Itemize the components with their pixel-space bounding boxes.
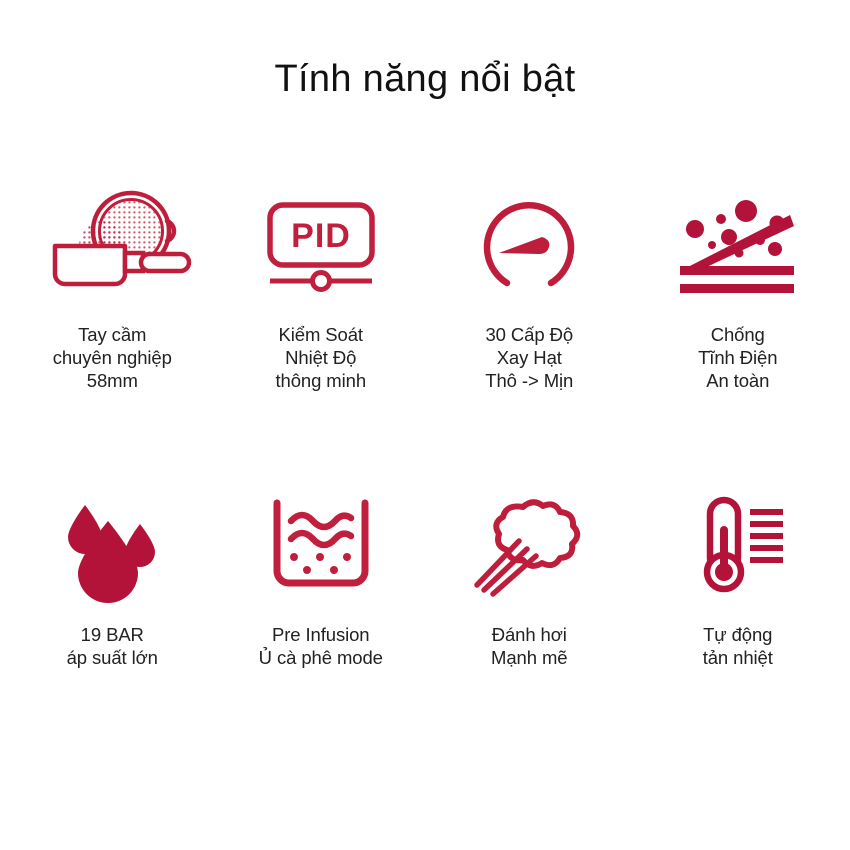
svg-text:PID: PID (291, 217, 351, 255)
feature-item-pid: PID Kiểm Soát Nhiệt Độ thông minh (217, 185, 426, 430)
feature-caption: Đánh hơi Mạnh mẽ (491, 623, 567, 669)
feature-item-thermometer: Tự động tản nhiệt (634, 485, 843, 730)
grind-gauge-icon (459, 185, 599, 310)
pre-infusion-basin-icon (251, 485, 391, 610)
feature-grid: Tay cầm chuyên nghiệp 58mm PID Kiểm Soát… (8, 185, 842, 730)
feature-caption: 30 Cấp Độ Xay Hạt Thô -> Mịn (485, 323, 573, 392)
feature-caption: Pre Infusion Ủ cà phê mode (259, 623, 383, 669)
feature-item-portafilter: Tay cầm chuyên nghiệp 58mm (8, 185, 217, 430)
water-drops-icon (42, 485, 182, 610)
feature-caption: Chống Tĩnh Điện An toàn (698, 323, 777, 392)
feature-highlights-page: Tính năng nổi bật (0, 0, 850, 850)
feature-item-pressure: 19 BAR áp suất lớn (8, 485, 217, 730)
page-title: Tính năng nổi bật (0, 56, 850, 102)
feature-item-grind: 30 Cấp Độ Xay Hạt Thô -> Mịn (425, 185, 634, 430)
anti-static-particles-icon (668, 185, 808, 310)
feature-caption: 19 BAR áp suất lớn (67, 623, 158, 669)
feature-caption: Kiểm Soát Nhiệt Độ thông minh (275, 323, 366, 392)
pid-controller-icon: PID (251, 185, 391, 310)
feature-caption: Tay cầm chuyên nghiệp 58mm (53, 323, 172, 392)
steam-burst-icon (459, 485, 599, 610)
feature-caption: Tự động tản nhiệt (703, 623, 773, 669)
feature-item-steam: Đánh hơi Mạnh mẽ (425, 485, 634, 730)
feature-item-preinfusion: Pre Infusion Ủ cà phê mode (217, 485, 426, 730)
portafilter-basket-icon (42, 185, 182, 310)
feature-item-antistatic: Chống Tĩnh Điện An toàn (634, 185, 843, 430)
thermometer-icon (668, 485, 808, 610)
